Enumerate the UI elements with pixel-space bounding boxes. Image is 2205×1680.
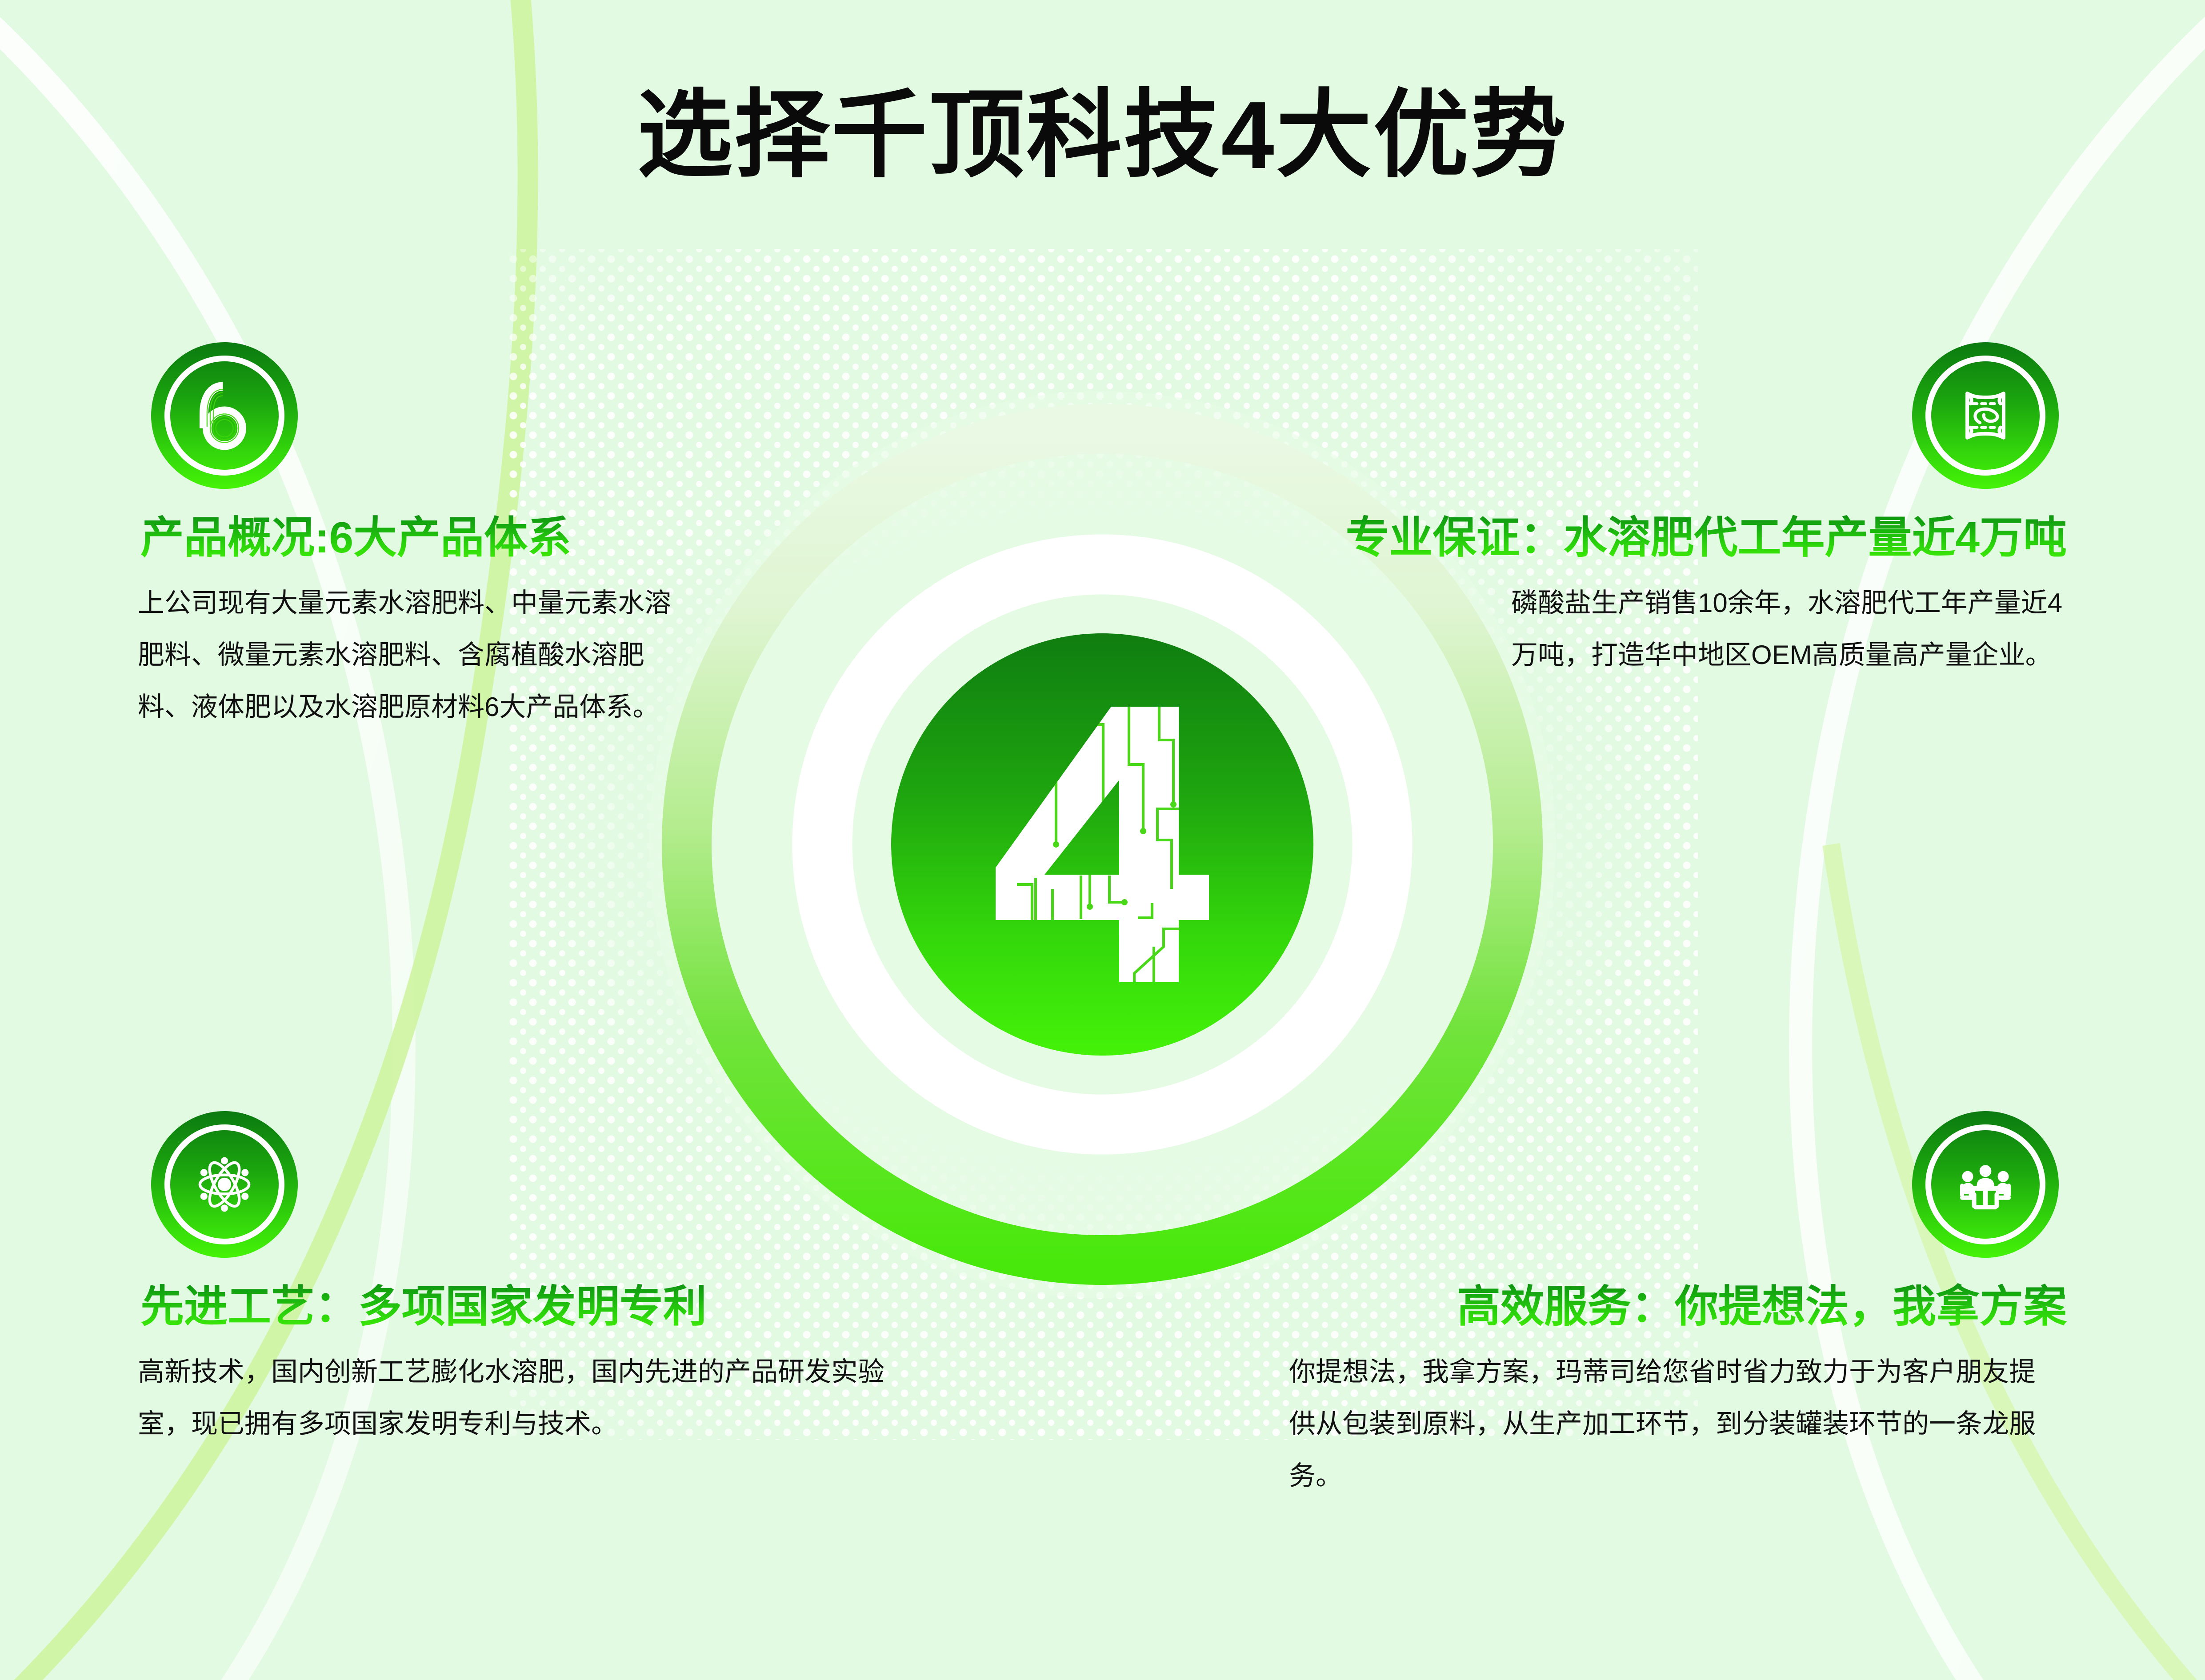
advantage-heading: 高效服务：你提想法，我拿方案 [1457, 1281, 2067, 1332]
advantage-heading: 专业保证：水溶肥代工年产量近4万吨 [1345, 512, 2067, 564]
advantage-card-top-left: 产品概况:6大产品体系 上公司现有大量元素水溶肥料、中量元素水溶肥料、微量元素水… [138, 342, 787, 733]
fertilizer-bag-icon [1912, 342, 2059, 489]
advantage-card-bottom-right: 高效服务：你提想法，我拿方案 你提想法，我拿方案，玛蒂司给您省时省力致力于为客户… [1289, 1111, 2067, 1502]
number-six-circle-icon [151, 342, 298, 489]
advantage-heading: 先进工艺：多项国家发明专利 [140, 1281, 938, 1332]
advantage-card-bottom-left: 先进工艺：多项国家发明专利 高新技术，国内创新工艺膨化水溶肥，国内先进的产品研发… [138, 1111, 938, 1450]
page-title: 选择千顶科技4大优势 [0, 80, 2205, 190]
advantage-body: 高新技术，国内创新工艺膨化水溶肥，国内先进的产品研发实验室，现已拥有多项国家发明… [138, 1346, 893, 1450]
center-number-four-icon [978, 698, 1227, 991]
advantage-body: 磷酸盐生产销售10余年，水溶肥代工年产量近4万吨，打造华中地区OEM高质量高产量… [1511, 577, 2067, 681]
center-number-medallion [891, 633, 1313, 1056]
advantage-body: 上公司现有大量元素水溶肥料、中量元素水溶肥料、微量元素水溶肥料、含腐植酸水溶肥料… [138, 577, 689, 733]
advantage-card-top-right: 专业保证：水溶肥代工年产量近4万吨 磷酸盐生产销售10余年，水溶肥代工年产量近4… [1147, 342, 2067, 681]
advantage-heading: 产品概况:6大产品体系 [140, 512, 787, 564]
advantage-body: 你提想法，我拿方案，玛蒂司给您省时省力致力于为客户朋友提供从包装到原料，从生产加… [1289, 1346, 2036, 1502]
atom-icon [151, 1111, 298, 1258]
meeting-table-people-icon [1912, 1111, 2059, 1258]
